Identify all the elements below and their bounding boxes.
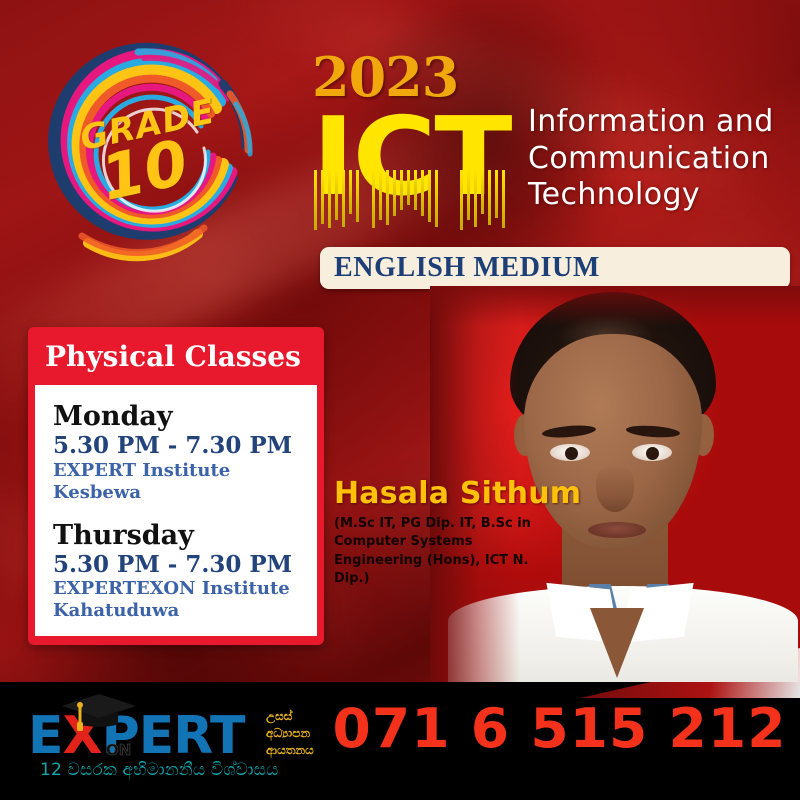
logo-sinhala-gold: උසස් අධ්‍යාපන ආයතනය: [266, 708, 314, 759]
ict-logo: ICT: [312, 104, 532, 234]
session-institute: EXPERTEXON Institute: [53, 578, 317, 600]
schedule-spacer: [53, 504, 317, 520]
phone-number: 071 6 515 212: [332, 702, 786, 756]
teacher-name: Hasala Sithum: [334, 476, 581, 511]
graduation-cap-icon: [60, 692, 138, 732]
logo-tagline: 12 වසරක අභිමානනීය විශ්වාසය: [40, 760, 279, 780]
schedule-card: Physical Classes Monday 5.30 PM - 7.30 P…: [28, 327, 324, 645]
grade-ring-icon: [18, 28, 268, 278]
session-day: Monday: [53, 401, 317, 432]
subject-line-3: Technology: [528, 177, 774, 214]
expert-logo: EXPERT ON උසස් අධ්‍යාපන ආයතනය 12 වසරක අභ…: [18, 690, 318, 790]
subject-line-2: Communication: [528, 141, 774, 178]
schedule-title: Physical Classes: [35, 334, 317, 385]
teacher-qualifications: (M.Sc IT, PG Dip. IT, B.Sc in Computer S…: [334, 515, 552, 589]
subject-title: Information and Communication Technology: [528, 104, 774, 214]
session-town: Kahatuduwa: [53, 600, 317, 622]
photo-fade-top: [430, 286, 800, 326]
schedule-session: Monday 5.30 PM - 7.30 PM EXPERT Institut…: [53, 401, 317, 504]
photo-pupil-left: [565, 447, 578, 460]
footer-bar: EXPERT ON උසස් අධ්‍යාපන ආයතනය 12 වසරක අභ…: [0, 682, 800, 800]
session-institute: EXPERT Institute: [53, 460, 317, 482]
grade-badge: GRADE 10: [18, 28, 268, 278]
logo-prefix: E: [28, 706, 63, 766]
photo-pupil-right: [646, 447, 659, 460]
photo-nose: [596, 464, 634, 512]
schedule-body: Monday 5.30 PM - 7.30 PM EXPERT Institut…: [35, 385, 317, 636]
ict-fringe-icon: [312, 170, 524, 232]
teacher-info: Hasala Sithum (M.Sc IT, PG Dip. IT, B.Sc…: [334, 476, 581, 589]
session-town: Kesbewa: [53, 482, 317, 504]
logo-sinhala-line-3: ආයතනය: [266, 742, 314, 759]
logo-on: ON: [106, 741, 131, 759]
medium-banner: ENGLISH MEDIUM: [320, 247, 790, 289]
logo-sinhala-line-2: අධ්‍යාපන: [266, 725, 314, 742]
medium-label: ENGLISH MEDIUM: [334, 252, 600, 284]
session-time: 5.30 PM - 7.30 PM: [53, 432, 317, 460]
subject-line-1: Information and: [528, 104, 774, 141]
session-time: 5.30 PM - 7.30 PM: [53, 551, 317, 579]
logo-sinhala-line-1: උසස්: [266, 708, 314, 725]
poster-root: GRADE 10 2023 ICT: [0, 0, 800, 800]
schedule-session: Thursday 5.30 PM - 7.30 PM EXPERTEXON In…: [53, 520, 317, 623]
session-day: Thursday: [53, 520, 317, 551]
photo-mouth: [588, 522, 646, 538]
